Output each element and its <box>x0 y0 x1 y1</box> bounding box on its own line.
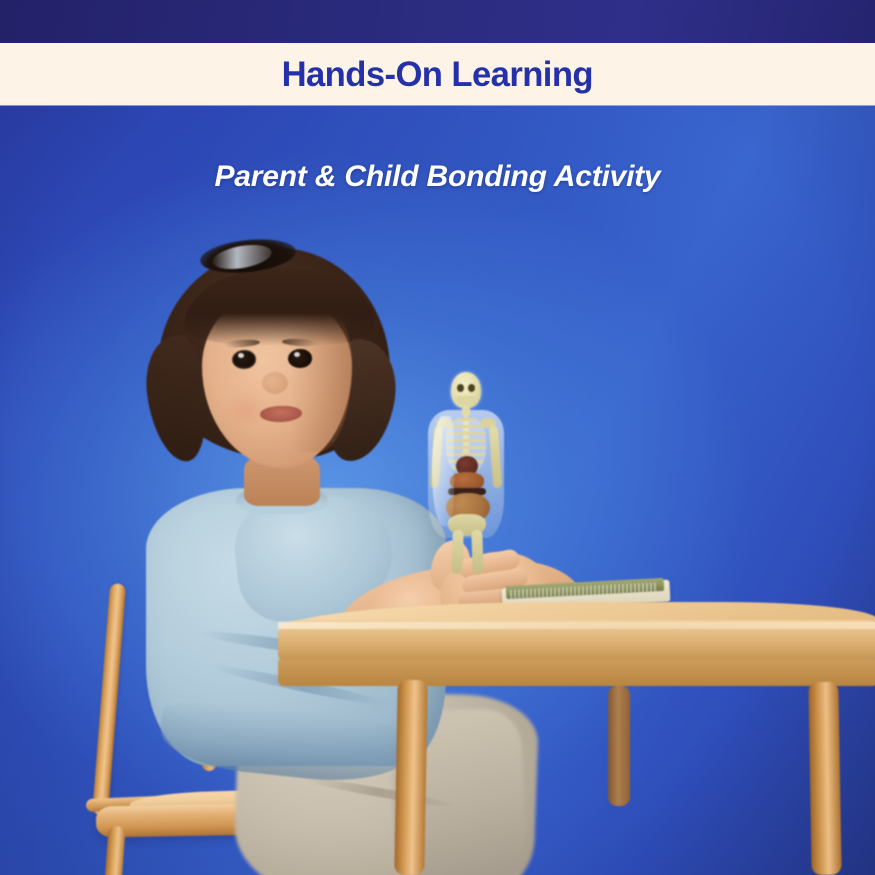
nose <box>262 372 288 394</box>
skeleton-neck <box>462 405 470 417</box>
eye-highlight-left <box>238 353 244 358</box>
skeleton-shell-highlight <box>432 416 454 526</box>
table-leg-left <box>394 680 427 875</box>
table-apron <box>278 660 875 686</box>
eye-right <box>288 349 312 368</box>
skeleton-leg-right <box>471 530 484 574</box>
chair-back-post-left <box>92 583 126 816</box>
poster-canvas: Hands-On Learning Parent & Child Bonding… <box>0 0 875 875</box>
photo-scene <box>0 0 875 875</box>
skull-jaw <box>457 396 475 405</box>
title-banner: Hands-On Learning <box>0 43 875 105</box>
wooden-table <box>278 620 875 875</box>
skeleton-model <box>418 372 514 572</box>
subtitle: Parent & Child Bonding Activity <box>0 160 875 194</box>
table-leg-rear <box>608 686 630 806</box>
eye-highlight-right <box>294 352 300 357</box>
table-edge-highlight <box>278 622 875 629</box>
page-title: Hands-On Learning <box>282 57 593 92</box>
top-accent-strip <box>0 0 875 43</box>
eye-left <box>232 350 256 369</box>
skeleton-leg-left <box>451 530 464 574</box>
skull-eye-right <box>468 384 475 392</box>
skull-eye-left <box>457 384 464 392</box>
table-leg-right <box>808 682 841 875</box>
